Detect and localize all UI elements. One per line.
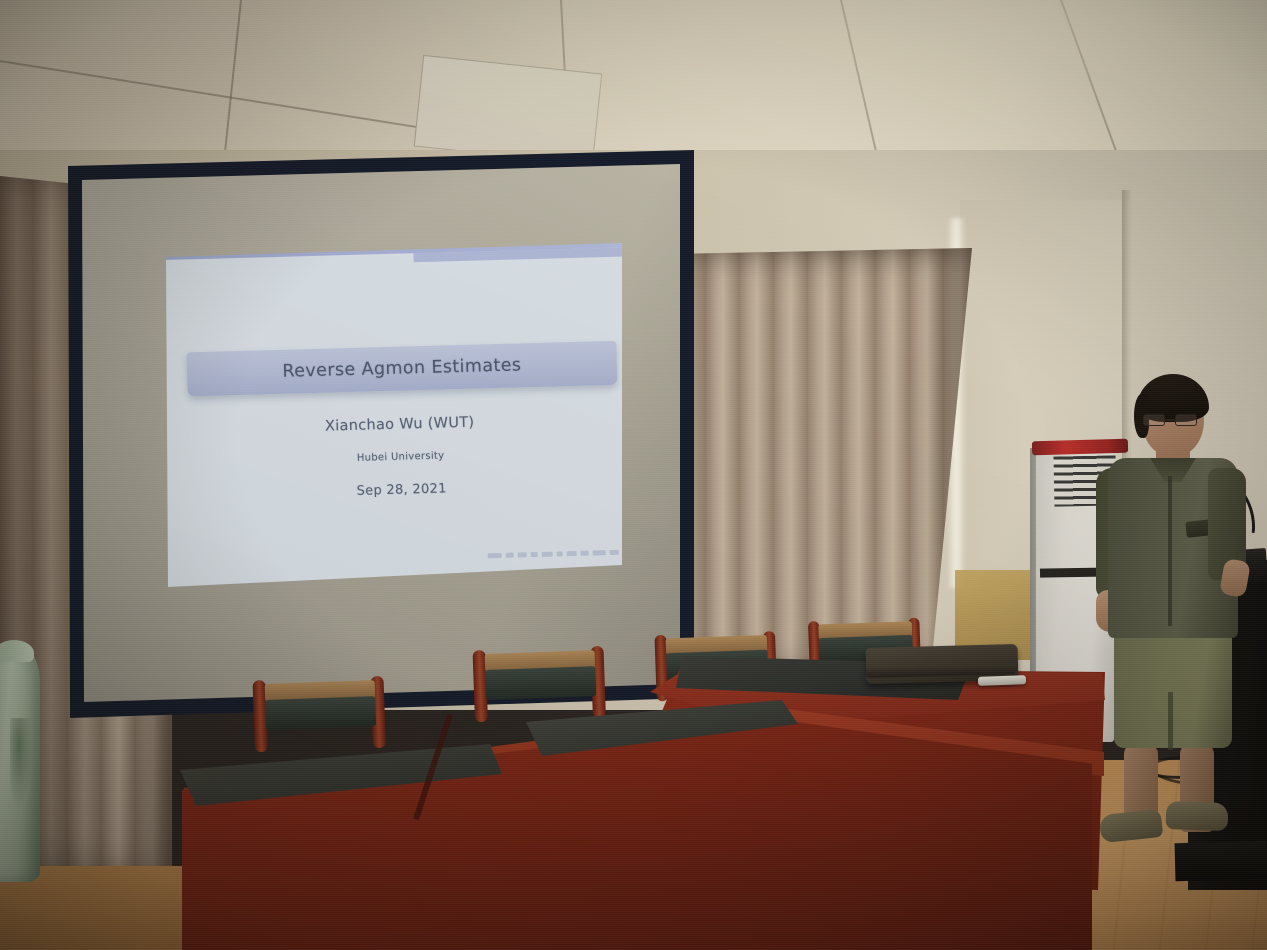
presenter-shorts — [1114, 630, 1232, 748]
ceiling-light-panel — [414, 55, 603, 165]
nav-segment[interactable] — [593, 550, 606, 555]
presenter-remote[interactable] — [978, 675, 1026, 686]
conference-chair[interactable] — [247, 679, 400, 764]
slide-content: Reverse Agmon Estimates Xianchao Wu (WUT… — [163, 243, 625, 588]
eyeglass-lens — [1175, 414, 1197, 426]
nav-segment[interactable] — [518, 552, 527, 557]
chair-back-pad — [265, 696, 376, 730]
projected-slide: Reverse Agmon Estimates Xianchao Wu (WUT… — [163, 243, 625, 588]
nav-segment[interactable] — [581, 551, 589, 556]
standing-presenter — [1080, 372, 1265, 832]
presenter-shirt-placket — [1168, 476, 1172, 626]
nav-segment[interactable] — [567, 551, 577, 556]
nav-segment[interactable] — [506, 553, 514, 558]
eyeglasses-icon — [1143, 414, 1201, 426]
slide-author: Xianchao Wu (WUT) — [168, 410, 625, 438]
eyeglass-lens — [1143, 414, 1165, 426]
vase-decoration — [10, 718, 32, 810]
chair-back-pad — [485, 666, 596, 700]
presenter-shorts-seam — [1168, 692, 1173, 750]
slide-date: Sep 28, 2021 — [171, 476, 625, 503]
presenter-right-forearm — [1219, 558, 1251, 598]
nav-segment[interactable] — [488, 553, 502, 558]
lecture-room-photo: Reverse Agmon Estimates Xianchao Wu (WUT… — [0, 0, 1267, 950]
slide-title-block: Reverse Agmon Estimates — [186, 341, 617, 397]
slide-affiliation: Hubei University — [170, 445, 625, 468]
nav-segment[interactable] — [557, 551, 563, 556]
slide-title: Reverse Agmon Estimates — [282, 355, 522, 381]
nav-segment[interactable] — [531, 552, 538, 557]
beamer-navigation-bar[interactable] — [454, 549, 619, 560]
window-curtain-center — [672, 248, 972, 678]
nav-segment[interactable] — [610, 550, 619, 555]
presenter-right-shoe — [1166, 801, 1229, 831]
lectern-base — [1175, 841, 1267, 881]
eyeglass-bridge — [1165, 419, 1175, 421]
nav-segment[interactable] — [542, 552, 553, 557]
